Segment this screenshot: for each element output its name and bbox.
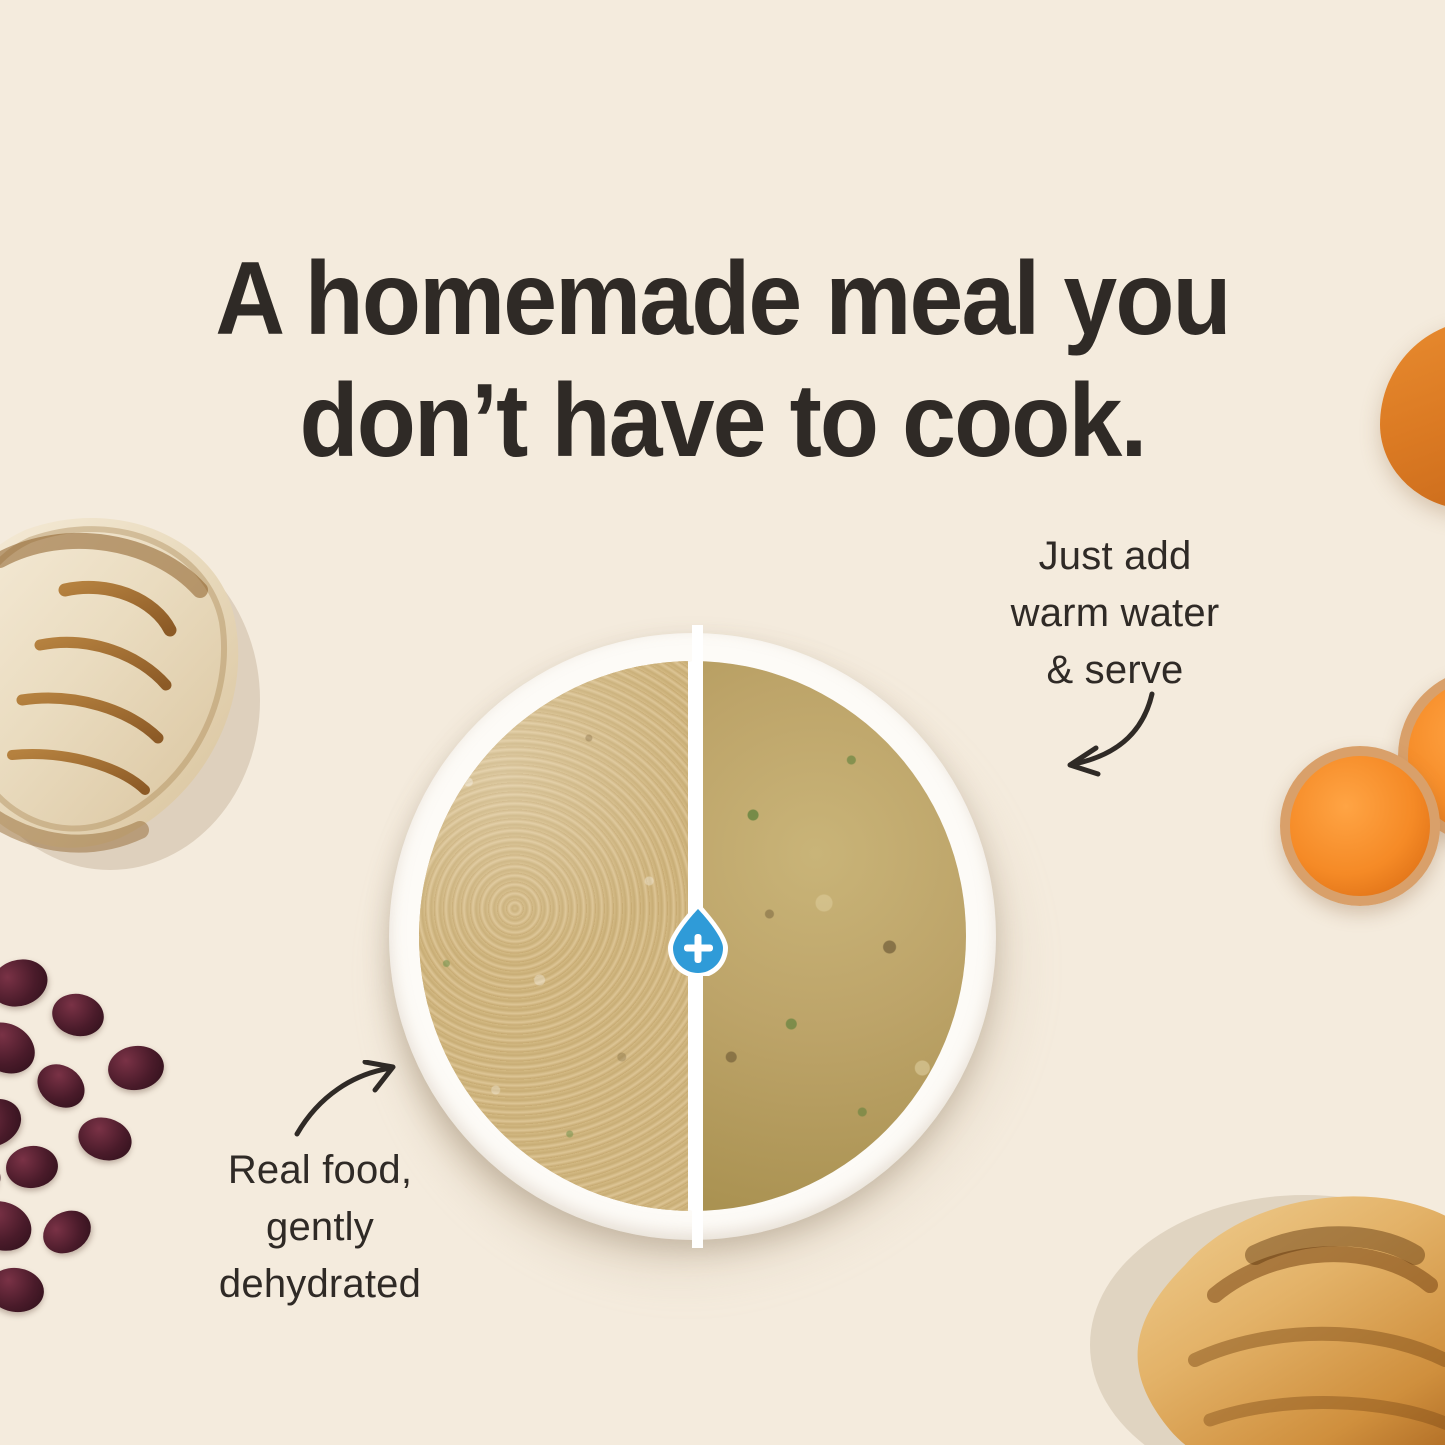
callout-right-line-1: Just add [965,528,1265,585]
page-title: A homemade meal you don’t have to cook. [51,238,1395,483]
callout-left-line-2: gently [160,1199,480,1256]
bowl-right-label: rehydrated meal [0,0,1,1]
bowl-half-dehydrated [419,661,693,1211]
callout-just-add-water: Just add warm water & serve [965,528,1265,698]
water-drop-plus-icon [660,900,736,976]
headline-line-1: A homemade meal you [215,241,1230,357]
bowl-left-label: dehydrated powder [0,0,1,1]
callout-left-line-3: dehydrated [160,1256,480,1313]
headline-line-2: don’t have to cook. [51,360,1395,483]
callout-real-food: Real food, gently dehydrated [160,1142,480,1312]
arrow-to-bowl-right-icon [1040,688,1160,778]
callout-left-line-1: Real food, [160,1142,480,1199]
callout-right-line-2: warm water [965,585,1265,642]
product-infographic: A homemade meal you don’t have to cook. … [0,0,1445,1445]
sweet-potato-slice-icon [1280,746,1440,906]
roasted-chicken-image [1075,1145,1445,1445]
arrow-to-bowl-left-icon [293,1060,403,1140]
cod-fillet-image [0,470,270,890]
